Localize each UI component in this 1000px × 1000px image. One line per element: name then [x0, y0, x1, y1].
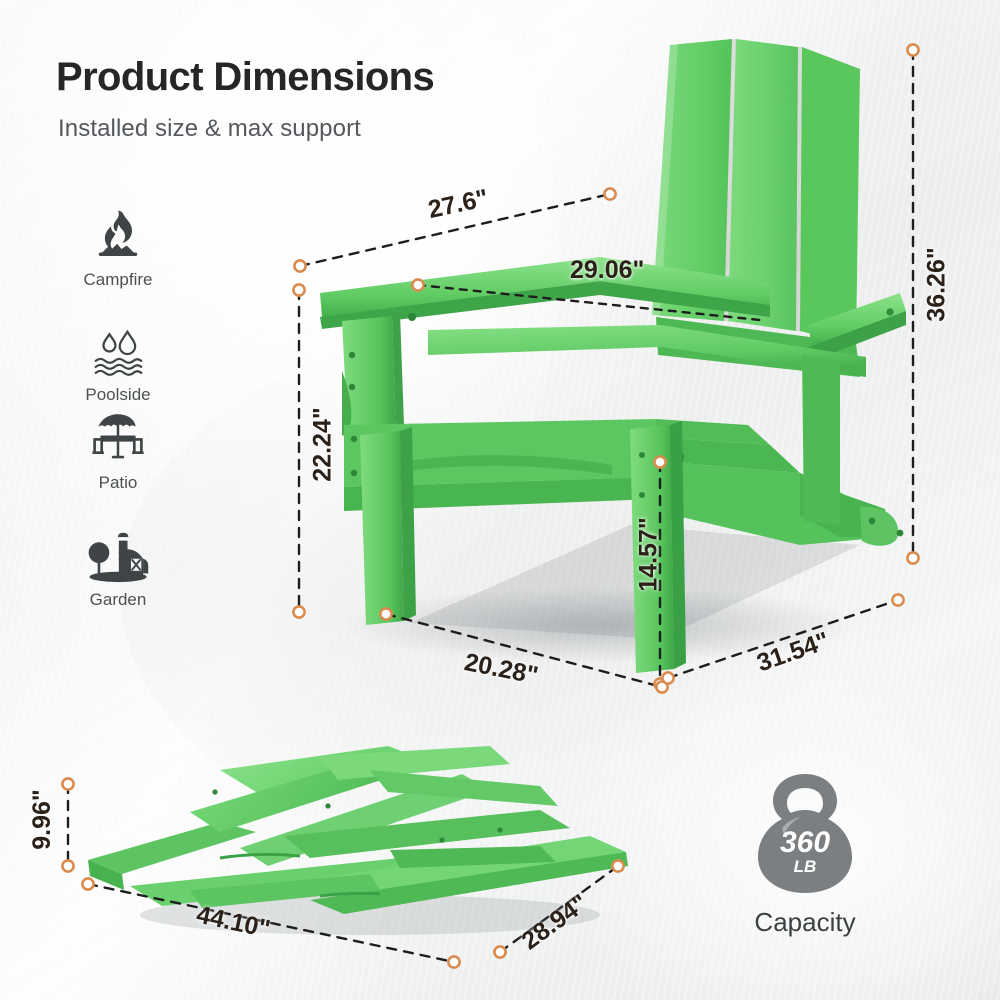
dimension-label-14-57: 14.57" [635, 517, 664, 591]
feature-garden: Garden [53, 525, 183, 610]
kettlebell-icon: 360 LB [740, 768, 870, 896]
capacity-unit: LB [794, 857, 817, 876]
dimension-label-36-26: 36.26" [923, 247, 952, 321]
capacity-label: Capacity [700, 907, 910, 938]
dim-marker [654, 678, 665, 689]
feature-patio: Patio [53, 408, 183, 493]
dimension-label-22-24: 22.24" [309, 407, 338, 481]
feature-label: Garden [53, 590, 183, 610]
poolside-icon [53, 320, 183, 378]
dimension-label-9-96: 9.96" [28, 789, 57, 850]
garden-icon [53, 525, 183, 583]
chair-front-leg-near [360, 427, 416, 625]
capacity-value: 360 [780, 826, 830, 859]
feature-label: Poolside [53, 385, 183, 405]
feature-campfire: Campfire [53, 205, 183, 290]
patio-icon [53, 408, 183, 466]
dim-marker [448, 956, 459, 967]
dim-marker [656, 681, 667, 692]
assembled-chair-illustration [300, 25, 910, 675]
infographic-canvas: Product Dimensions Installed size & max … [0, 0, 1000, 1000]
chair-rear-leg [802, 355, 840, 525]
dim-marker [494, 946, 505, 957]
dimension-label-29-06: 29.06" [570, 256, 644, 285]
campfire-icon [53, 205, 183, 263]
feature-label: Campfire [53, 270, 183, 290]
capacity-badge: 360 LB Capacity [700, 768, 910, 938]
feature-poolside: Poolside [53, 320, 183, 405]
feature-label: Patio [53, 473, 183, 493]
